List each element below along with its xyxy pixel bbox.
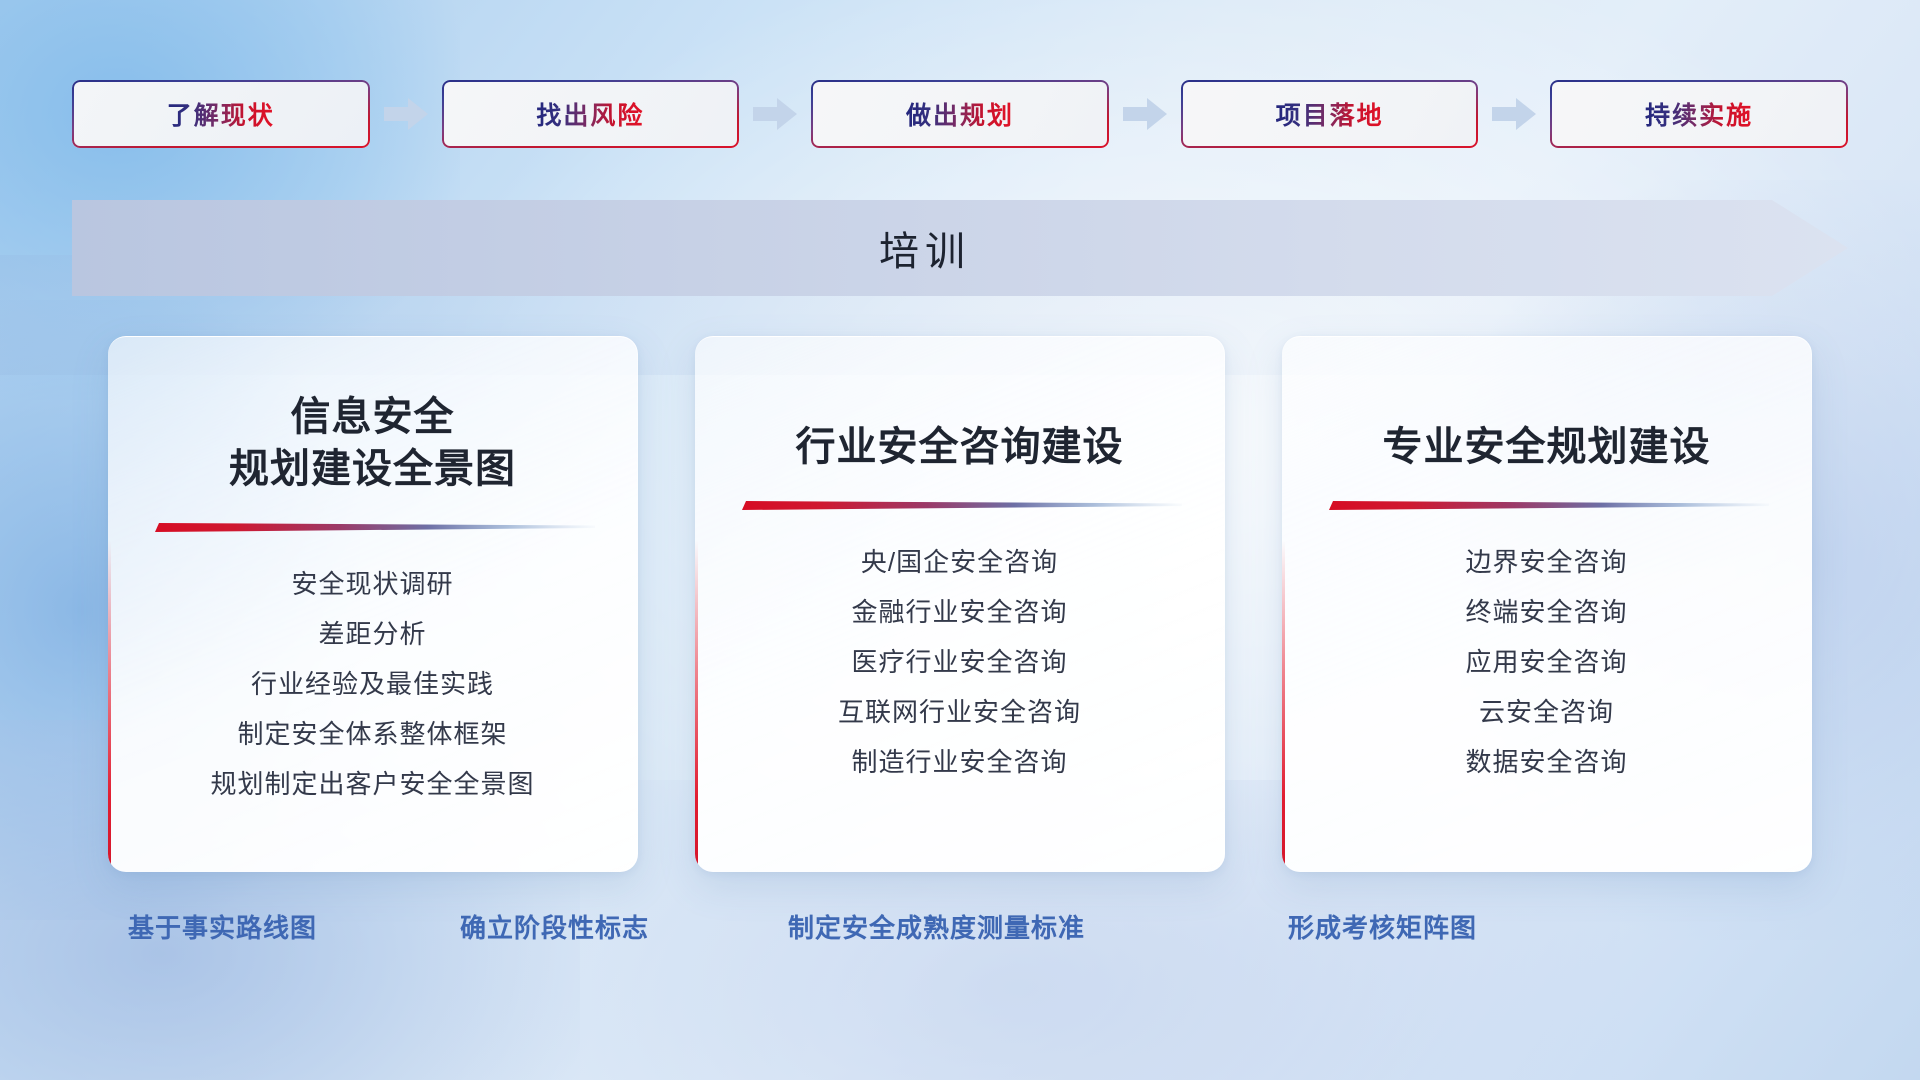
card-title: 专业安全规划建设 (1383, 391, 1711, 473)
cards-row: 信息安全 规划建设全景图 (108, 336, 1812, 872)
arrow-right-icon (753, 96, 797, 132)
process-step-2[interactable]: 做出规划 (811, 80, 1109, 148)
bottom-label-1: 确立阶段性标志 (460, 908, 649, 945)
list-item: 数据安全咨询 (1465, 741, 1627, 783)
list-item: 边界安全咨询 (1465, 541, 1627, 583)
card-item-list: 央/国企安全咨询 金融行业安全咨询 医疗行业安全咨询 互联网行业安全咨询 制造行… (838, 541, 1081, 792)
process-step-label: 项目落地 (1276, 96, 1384, 132)
card-content: 信息安全 规划建设全景图 (108, 337, 637, 872)
list-item: 医疗行业安全咨询 (838, 641, 1081, 683)
list-item: 制定安全体系整体框架 (210, 713, 534, 755)
list-item: 安全现状调研 (210, 563, 534, 605)
list-item: 制造行业安全咨询 (838, 741, 1081, 783)
process-step-label: 找出风险 (536, 96, 644, 132)
card-item-list: 边界安全咨询 终端安全咨询 应用安全咨询 云安全咨询 数据安全咨询 (1465, 541, 1627, 792)
process-step-label: 了解现状 (167, 96, 275, 132)
process-step-1[interactable]: 找出风险 (442, 80, 740, 148)
card-content: 专业安全规划建设 (1282, 337, 1811, 872)
bottom-label-0: 基于事实路线图 (128, 908, 317, 945)
banner-label: 培训 (879, 219, 971, 277)
list-item: 应用安全咨询 (1465, 641, 1627, 683)
process-step-label: 做出规划 (906, 96, 1014, 132)
process-step-3[interactable]: 项目落地 (1181, 80, 1479, 148)
list-item: 央/国企安全咨询 (838, 541, 1081, 583)
arrow-right-icon (384, 96, 428, 132)
card-divider (738, 499, 1182, 513)
arrow-right-icon (1492, 96, 1536, 132)
card-professional-security-planning[interactable]: 专业安全规划建设 (1282, 336, 1812, 872)
card-industry-security-consulting[interactable]: 行业安全咨询建设 (695, 336, 1225, 872)
process-step-4[interactable]: 持续实施 (1550, 80, 1848, 148)
list-item: 互联网行业安全咨询 (838, 691, 1081, 733)
arrow-right-icon (1123, 96, 1167, 132)
card-information-security-blueprint[interactable]: 信息安全 规划建设全景图 (108, 336, 638, 872)
bottom-label-3: 形成考核矩阵图 (1288, 908, 1477, 945)
list-item: 终端安全咨询 (1465, 591, 1627, 633)
list-item: 规划制定出客户安全全景图 (210, 763, 534, 805)
banner-label-wrap: 培训 (72, 200, 1848, 296)
process-step-label: 持续实施 (1645, 96, 1753, 132)
card-title: 信息安全 规划建设全景图 (229, 391, 516, 495)
card-title: 行业安全咨询建设 (796, 391, 1124, 473)
card-item-list: 安全现状调研 差距分析 行业经验及最佳实践 制定安全体系整体框架 规划制定出客户… (210, 563, 534, 814)
process-step-0[interactable]: 了解现状 (72, 80, 370, 148)
card-divider (1325, 499, 1769, 513)
list-item: 云安全咨询 (1465, 691, 1627, 733)
bottom-label-2: 制定安全成熟度测量标准 (788, 908, 1085, 945)
slide-canvas: 了解现状 找出风险 做出规划 项目落地 (0, 0, 1920, 1080)
bottom-labels-row: 基于事实路线图 确立阶段性标志 制定安全成熟度测量标准 形成考核矩阵图 (108, 908, 1848, 952)
training-banner: 培训 (72, 200, 1848, 296)
process-steps-row: 了解现状 找出风险 做出规划 项目落地 (72, 78, 1848, 150)
card-content: 行业安全咨询建设 (695, 337, 1224, 872)
list-item: 行业经验及最佳实践 (210, 663, 534, 705)
list-item: 金融行业安全咨询 (838, 591, 1081, 633)
list-item: 差距分析 (210, 613, 534, 655)
card-divider (151, 521, 595, 535)
